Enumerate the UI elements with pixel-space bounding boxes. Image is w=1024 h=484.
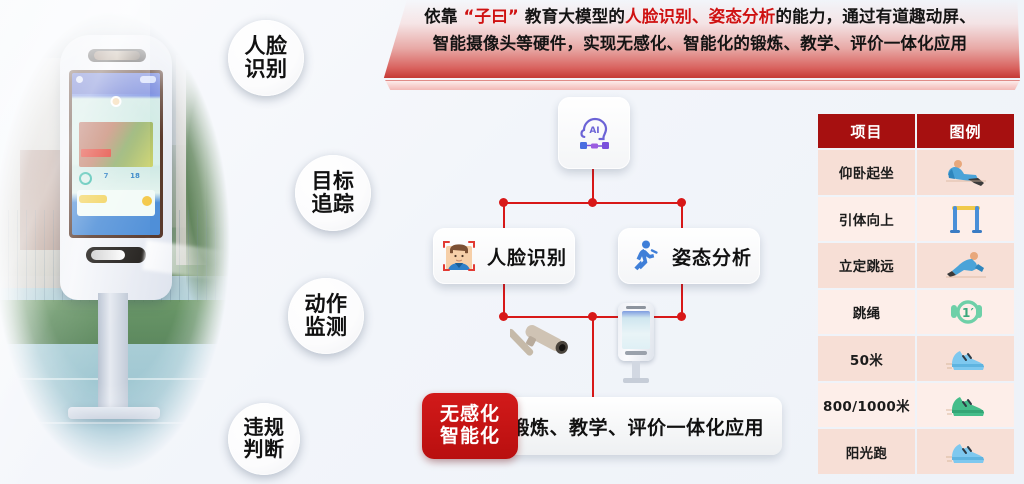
table-header-row: 项目 图例 xyxy=(818,114,1014,148)
connector-dot xyxy=(499,312,508,321)
svg-text:1′: 1′ xyxy=(961,306,973,320)
kiosk-lower-slot xyxy=(86,247,146,263)
badge-line-2: 监测 xyxy=(305,316,348,339)
banner-highlight: “子曰” xyxy=(463,7,519,26)
banner-plain: 依靠 xyxy=(424,7,463,26)
svg-text:AI: AI xyxy=(589,126,599,136)
green-sneaker-icon xyxy=(944,390,988,420)
badge-line-1: 动作 xyxy=(305,293,348,316)
badge-line-1: 目标 xyxy=(312,170,355,193)
face-scan-icon xyxy=(441,238,477,274)
table-row[interactable]: 仰卧起坐 xyxy=(818,150,1014,195)
banner-trapezoid-shadow xyxy=(380,80,1020,90)
badge-motion-monitoring[interactable]: 动作 监测 xyxy=(288,278,364,354)
table-cell-item: 引体向上 xyxy=(818,197,915,242)
screen-avatar xyxy=(111,96,122,107)
kiosk-stem xyxy=(98,293,128,413)
result-text: 锻炼、教学、评价一体化应用 xyxy=(510,413,764,440)
mini-kiosk-illustration xyxy=(618,303,654,385)
table-cell-item: 仰卧起坐 xyxy=(818,150,915,195)
screen-logo-dot xyxy=(76,76,83,83)
table-cell-icon xyxy=(917,150,1014,195)
slide-canvas: 7 18 人脸 识别 目标 追踪 xyxy=(0,0,1024,484)
jump-rope-icon: 1′ xyxy=(946,296,986,328)
badge-line-2: 追踪 xyxy=(312,193,355,216)
headline-banner: 依靠 “子曰” 教育大模型的人脸识别、姿态分析的能力，通过有道趣动屏、 智能摄像… xyxy=(380,0,1020,92)
kiosk-base xyxy=(68,407,160,419)
connector-dot xyxy=(677,312,686,321)
badge-face-recognition[interactable]: 人脸 识别 xyxy=(228,20,304,96)
ai-model-node[interactable]: AI xyxy=(558,97,630,169)
mini-kiosk-screen xyxy=(622,311,650,349)
node-label: 姿态分析 xyxy=(672,243,752,270)
banner-line-2: 智能摄像头等硬件，实现无感化、智能化的锻炼、教学、评价一体化应用 xyxy=(433,30,967,57)
result-badge-line-2: 智能化 xyxy=(440,426,500,448)
screen-stat-2: 18 xyxy=(130,172,140,180)
connector-dot xyxy=(677,198,686,207)
sit-up-icon xyxy=(944,157,988,187)
badge-line-2: 判断 xyxy=(244,439,285,461)
table-header-item: 项目 xyxy=(818,114,915,148)
screen-red-tag xyxy=(81,149,111,157)
table-cell-icon: 1′ xyxy=(917,290,1014,335)
badge-violation-judgement[interactable]: 违规 判断 xyxy=(228,403,300,475)
table-header-legend: 图例 xyxy=(917,114,1014,148)
standing-jump-icon xyxy=(944,250,988,280)
table-cell-item: 立定跳远 xyxy=(818,243,915,288)
connector-dot xyxy=(588,198,597,207)
screen-yellow-bar xyxy=(79,195,107,203)
kiosk-photo: 7 18 xyxy=(0,0,240,484)
pull-up-bar-icon xyxy=(946,203,986,235)
node-label: 人脸识别 xyxy=(487,243,567,270)
photo-background: 7 18 xyxy=(0,0,240,484)
screen-header-pill xyxy=(140,76,156,83)
face-recognition-node[interactable]: 人脸识别 xyxy=(433,228,575,284)
table-cell-icon xyxy=(917,383,1014,428)
banner-highlight: 人脸识别、姿态分析 xyxy=(625,7,775,26)
result-badge[interactable]: 无感化 智能化 xyxy=(422,393,518,459)
table-row[interactable]: 立定跳远 xyxy=(818,243,1014,288)
mini-kiosk-stem xyxy=(632,361,640,379)
court-line xyxy=(0,422,240,424)
table-cell-icon xyxy=(917,243,1014,288)
table-cell-item: 跳绳 xyxy=(818,290,915,335)
mini-kiosk-lower-slot xyxy=(625,351,647,355)
banner-plain: 的能力，通过有道趣动屏、 xyxy=(775,7,975,26)
table-cell-item: 阳光跑 xyxy=(818,429,915,474)
badge-line-1: 违规 xyxy=(244,417,285,439)
result-badge-line-1: 无感化 xyxy=(440,404,500,426)
running-person-icon xyxy=(626,238,662,274)
screen-illustration xyxy=(79,122,153,167)
kiosk-device: 7 18 xyxy=(60,35,172,305)
ai-brain-icon: AI xyxy=(571,110,617,156)
table-row[interactable]: 阳光跑 xyxy=(818,429,1014,474)
banner-text: 依靠 “子曰” 教育大模型的人脸识别、姿态分析的能力，通过有道趣动屏、 智能摄像… xyxy=(380,3,1020,63)
blue-sneaker-icon xyxy=(944,437,988,467)
kiosk-screen-bezel: 7 18 xyxy=(69,70,163,238)
table-cell-icon xyxy=(917,429,1014,474)
connector-to-result xyxy=(592,317,594,399)
security-camera-illustration xyxy=(510,317,588,379)
sports-items-table: 项目 图例 仰卧起坐 引体向上 xyxy=(818,114,1014,474)
mini-kiosk-base xyxy=(623,378,649,383)
connector-to-face xyxy=(503,203,505,230)
table-row[interactable]: 50米 xyxy=(818,336,1014,381)
badge-target-tracking[interactable]: 目标 追踪 xyxy=(295,155,371,231)
mini-kiosk-camera-slot xyxy=(626,306,646,309)
badge-line-2: 识别 xyxy=(245,58,288,81)
kiosk-camera-slot xyxy=(88,49,146,62)
connector-to-pose xyxy=(681,203,683,230)
kiosk-screen: 7 18 xyxy=(72,73,160,235)
blue-sneaker-icon xyxy=(944,344,988,374)
table-cell-item: 50米 xyxy=(818,336,915,381)
table-row[interactable]: 800/1000米 xyxy=(818,383,1014,428)
banner-line-1: 依靠 “子曰” 教育大模型的人脸识别、姿态分析的能力，通过有道趣动屏、 xyxy=(424,3,976,30)
table-row[interactable]: 跳绳 1′ xyxy=(818,290,1014,335)
table-row[interactable]: 引体向上 xyxy=(818,197,1014,242)
table-cell-item: 800/1000米 xyxy=(818,383,915,428)
table-cell-icon xyxy=(917,336,1014,381)
screen-stat-1: 7 xyxy=(104,172,109,180)
banner-plain: 教育大模型的 xyxy=(519,7,625,26)
architecture-diagram: AI 人脸识别 xyxy=(400,95,820,484)
badge-line-1: 人脸 xyxy=(245,35,288,58)
table-cell-icon xyxy=(917,197,1014,242)
camera-icon xyxy=(510,317,588,379)
screen-progress-ring xyxy=(79,172,92,185)
pose-analysis-node[interactable]: 姿态分析 xyxy=(618,228,760,284)
mini-kiosk-body xyxy=(618,303,654,361)
connector-dot xyxy=(588,312,597,321)
connector-dot xyxy=(499,198,508,207)
